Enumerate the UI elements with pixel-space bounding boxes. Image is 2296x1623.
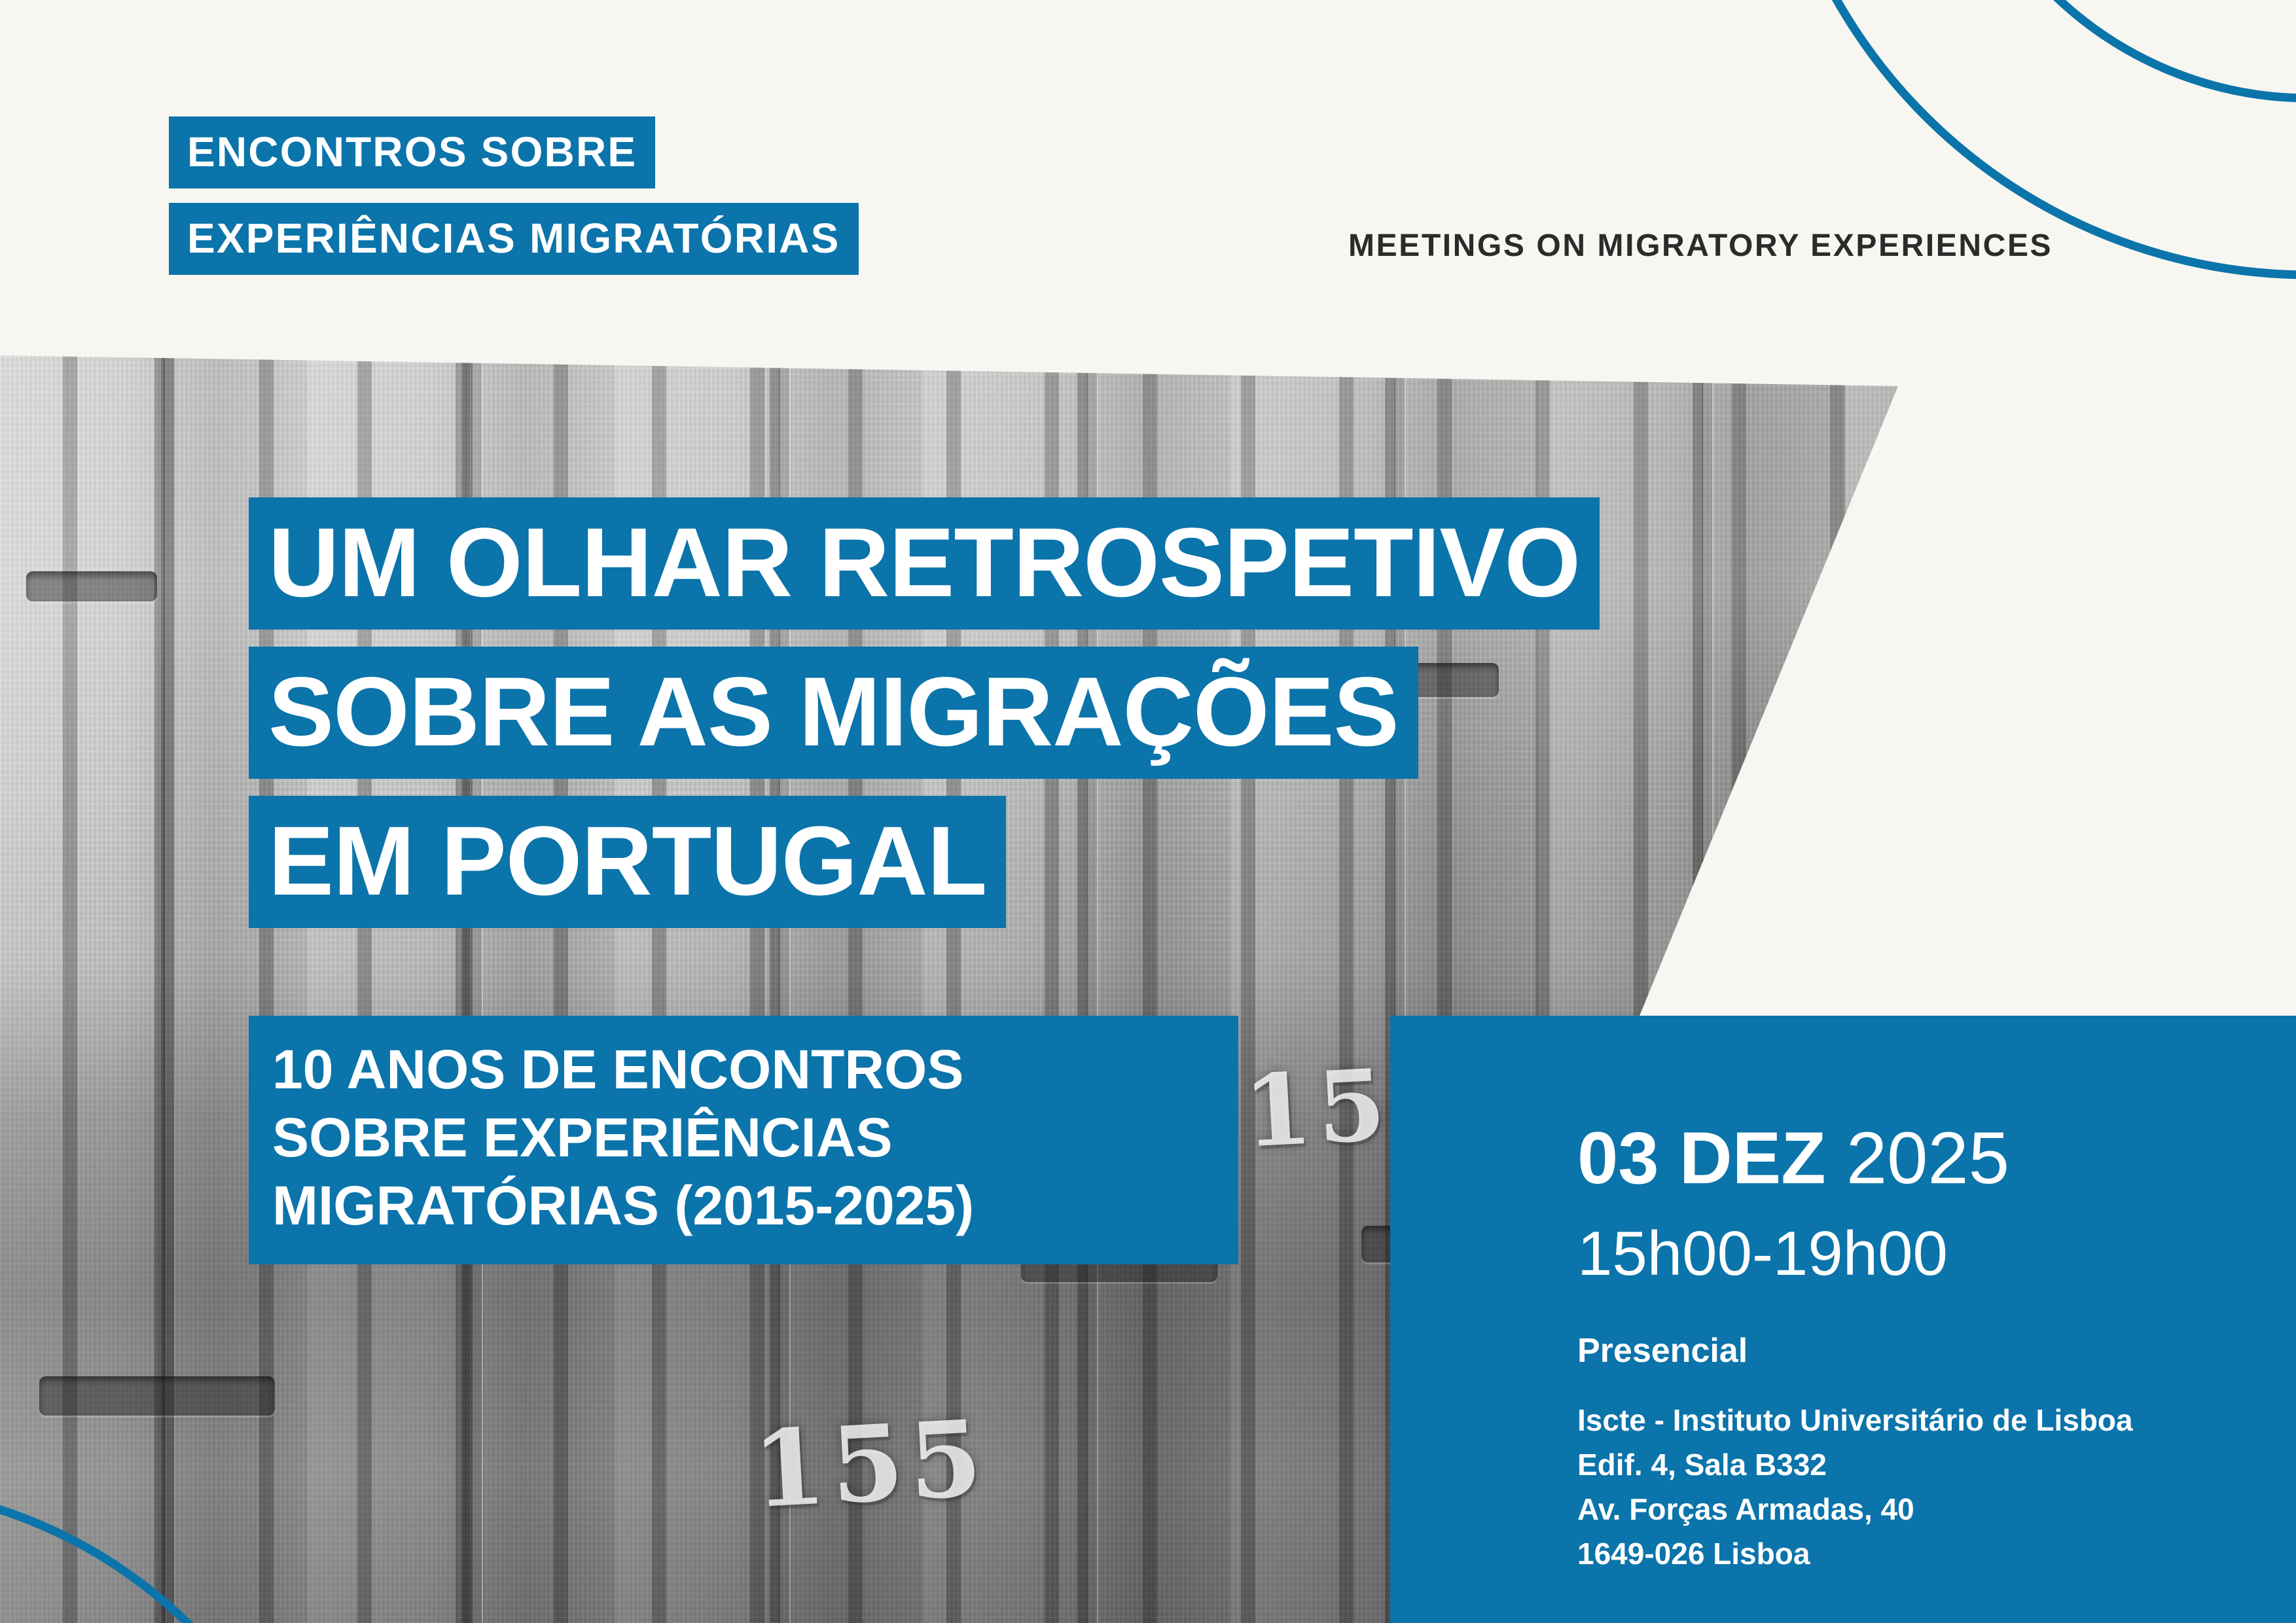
event-title-line-2: SOBRE AS MIGRAÇÕES <box>249 647 1418 779</box>
venue-line-room: Edif. 4, Sala B332 <box>1577 1442 2296 1487</box>
series-title-line-2: EXPERIÊNCIAS MIGRATÓRIAS <box>169 203 859 275</box>
mailbox-number: T5 <box>1784 718 1937 841</box>
event-info-panel: 03 DEZ 2025 15h00-19h00 Presencial Iscte… <box>1390 1016 2296 1623</box>
event-date-day-month: 03 DEZ <box>1577 1117 1826 1199</box>
event-venue: Iscte - Instituto Universitário de Lisbo… <box>1577 1398 2296 1576</box>
event-subtitle-line-2: SOBRE EXPERIÊNCIAS <box>272 1103 1215 1171</box>
event-subtitle-line-3: MIGRATÓRIAS (2015-2025) <box>272 1171 1215 1240</box>
event-date: 03 DEZ 2025 <box>1577 1122 2296 1195</box>
poster-header: ENCONTROS SOBRE EXPERIÊNCIAS MIGRATÓRIAS… <box>0 0 2296 355</box>
event-title: UM OLHAR RETROSPETIVO SOBRE AS MIGRAÇÕES… <box>0 497 1600 945</box>
venue-line-street: Av. Forças Armadas, 40 <box>1577 1487 2296 1531</box>
photo-credit: © Gerald Bloncourt <box>0 1457 4 1607</box>
event-subtitle: 10 ANOS DE ENCONTROS SOBRE EXPERIÊNCIAS … <box>249 1016 1238 1264</box>
event-format: Presencial <box>1577 1334 2296 1368</box>
series-title-english: MEETINGS ON MIGRATORY EXPERIENCES <box>1348 228 2053 264</box>
event-date-year: 2025 <box>1846 1117 2009 1199</box>
event-title-line-1: UM OLHAR RETROSPETIVO <box>249 497 1600 630</box>
series-title-line-1: ENCONTROS SOBRE <box>169 116 655 188</box>
event-title-line-3: EM PORTUGAL <box>249 796 1006 928</box>
mailbox-edge <box>1702 355 1712 1075</box>
event-poster: 25 126 128 129 154 155 T5 © Gerald Blonc… <box>0 0 2296 1623</box>
event-subtitle-line-1: 10 ANOS DE ENCONTROS <box>272 1035 1215 1103</box>
event-time: 15h00-19h00 <box>1577 1222 2296 1285</box>
venue-line-institution: Iscte - Instituto Universitário de Lisbo… <box>1577 1398 2296 1442</box>
mailbox-slot <box>39 1376 275 1416</box>
venue-line-postal: 1649-026 Lisboa <box>1577 1531 2296 1576</box>
